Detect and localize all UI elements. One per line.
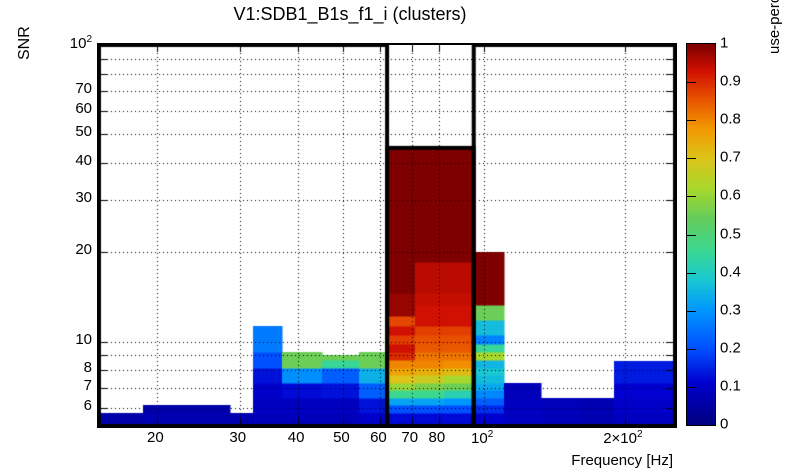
y-tick-label: 6	[84, 398, 92, 413]
colorbar-tick	[687, 387, 696, 388]
colorbar-tick	[687, 158, 696, 159]
colorbar-tick-label: 0.4	[720, 263, 741, 280]
x-tick-label: 80	[429, 430, 446, 445]
colorbar-title: use-percentage	[766, 0, 783, 54]
y-tick-label: 70	[75, 81, 92, 96]
colorbar-tick	[687, 235, 696, 236]
y-tick-label: 8	[84, 360, 92, 375]
colorbar-tick	[687, 120, 696, 121]
colorbar-tick-label: 0.9	[720, 73, 741, 90]
colorbar-tick-label: 0.8	[720, 111, 741, 128]
colorbar-tick-label: 0.5	[720, 225, 741, 242]
plot-root: V1:SDB1_B1s_f1_i (clusters) SNR 10270605…	[0, 0, 805, 472]
x-axis-title: Frequency [Hz]	[571, 452, 673, 469]
x-tick-label: 50	[333, 430, 350, 445]
x-tick-label: 2×102	[603, 430, 642, 446]
y-tick-label: 40	[75, 153, 92, 168]
x-tick-label: 70	[401, 430, 418, 445]
page-title: V1:SDB1_B1s_f1_i (clusters)	[0, 4, 700, 25]
plot-area[interactable]	[97, 43, 677, 428]
colorbar-tick-label: 0.3	[720, 301, 741, 318]
colorbar-tick	[687, 273, 696, 274]
heatmap-canvas[interactable]	[99, 45, 675, 426]
colorbar-tick-label: 0.1	[720, 377, 741, 394]
y-tick-label: 50	[75, 124, 92, 139]
y-tick-label: 20	[75, 242, 92, 257]
y-axis: SNR 10270605040302010876	[30, 0, 92, 472]
colorbar-tick-label: 0.6	[720, 187, 741, 204]
y-tick-label: 7	[84, 378, 92, 393]
colorbar-tick	[687, 311, 696, 312]
x-tick-label: 30	[229, 430, 246, 445]
y-tick-label: 102	[70, 35, 92, 51]
x-tick-label: 102	[471, 430, 493, 446]
colorbar-tick-label: 0.7	[720, 149, 741, 166]
x-tick-label: 20	[147, 430, 164, 445]
colorbar-tick-label: 0	[720, 416, 728, 433]
colorbar-tick	[687, 82, 696, 83]
colorbar-tick-label: 0.2	[720, 339, 741, 356]
y-tick-label: 30	[75, 190, 92, 205]
colorbar-tick	[687, 196, 696, 197]
y-tick-label: 60	[75, 101, 92, 116]
x-axis: 203040506070801022×102	[0, 430, 805, 454]
y-axis-title: SNR	[16, 26, 34, 60]
colorbar[interactable]	[686, 43, 716, 426]
x-tick-label: 60	[370, 430, 387, 445]
colorbar-tick-label: 1	[720, 35, 728, 52]
colorbar-tick	[687, 349, 696, 350]
y-tick-label: 10	[75, 332, 92, 347]
x-tick-label: 40	[288, 430, 305, 445]
